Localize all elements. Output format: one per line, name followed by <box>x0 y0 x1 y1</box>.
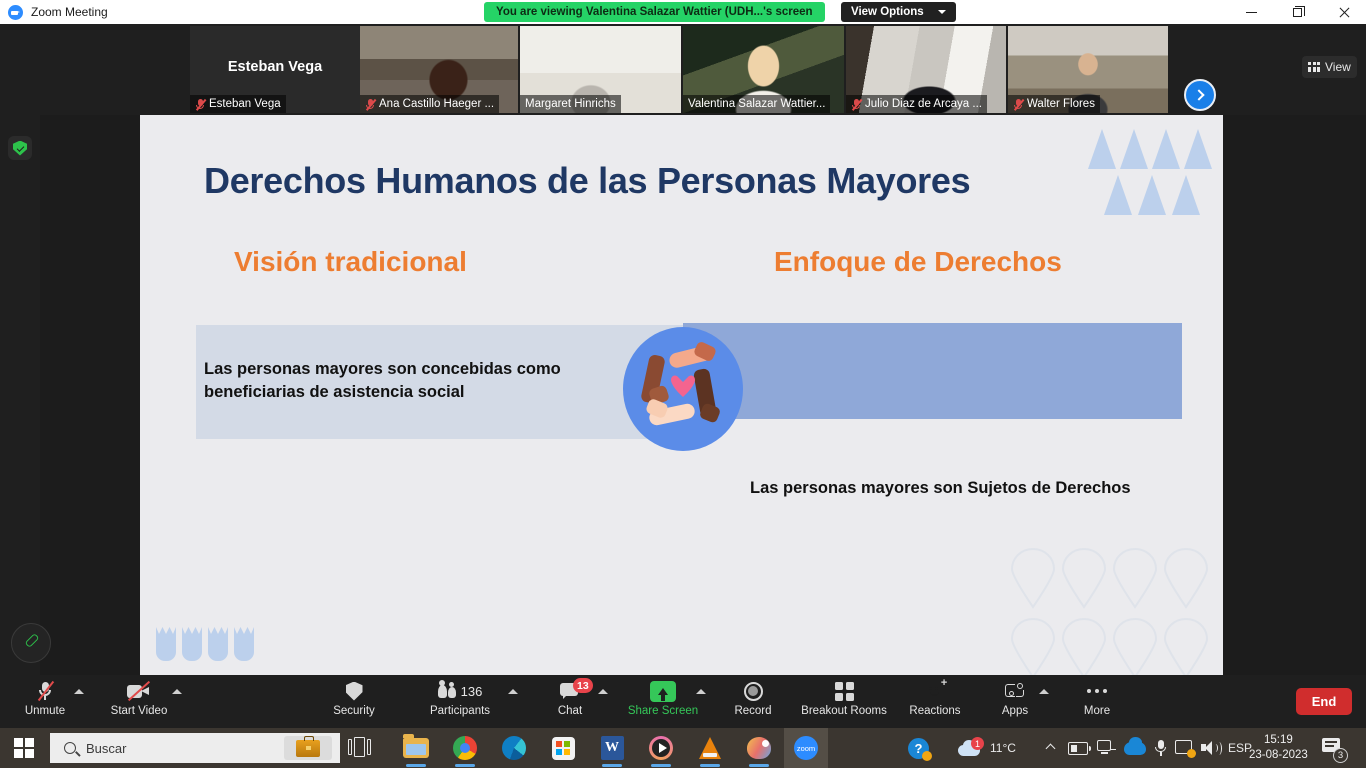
record-button[interactable]: Record <box>730 679 776 724</box>
taskbar-search-box[interactable]: Buscar <box>50 733 340 763</box>
chevron-right-icon <box>1193 89 1204 100</box>
annotate-button[interactable] <box>11 623 51 663</box>
screen-share-banner: You are viewing Valentina Salazar Wattie… <box>484 2 825 22</box>
breakout-rooms-button[interactable]: Breakout Rooms <box>794 679 894 724</box>
end-meeting-button[interactable]: End <box>1296 688 1352 715</box>
participants-count: 136 <box>461 684 483 699</box>
apps-button[interactable]: Apps <box>996 679 1034 724</box>
shared-screen-slide: Derechos Humanos de las Personas Mayores… <box>140 115 1223 675</box>
start-button[interactable] <box>4 732 44 764</box>
maximize-button[interactable] <box>1274 0 1320 24</box>
triangle-decoration <box>1088 129 1214 215</box>
display-settings-icon[interactable] <box>1175 728 1194 768</box>
left-rail <box>0 115 40 675</box>
clock-date: 23-08-2023 <box>1249 748 1308 763</box>
zoom-app-icon[interactable]: zoom <box>784 728 828 768</box>
start-video-button[interactable]: Start Video <box>103 679 175 724</box>
close-icon <box>1338 7 1349 18</box>
microphone-muted-icon <box>365 98 375 111</box>
search-icon <box>64 742 76 754</box>
minimize-button[interactable] <box>1228 0 1274 24</box>
tile-name-bar: Ana Castillo Haeger ... <box>360 95 499 113</box>
reactions-label: Reactions <box>909 705 960 717</box>
view-options-button[interactable]: View Options <box>841 2 956 22</box>
vlc-icon[interactable] <box>688 731 732 765</box>
view-options-label: View Options <box>851 6 924 18</box>
notifications-count: 3 <box>1333 748 1348 763</box>
windows-start-icon <box>14 738 34 758</box>
apps-label: Apps <box>1002 705 1028 717</box>
microphone-muted-icon <box>36 681 54 701</box>
video-options-caret-icon[interactable] <box>172 689 182 694</box>
task-view-icon[interactable] <box>348 738 372 758</box>
participant-name: Walter Flores <box>1027 98 1095 110</box>
tulip-decoration <box>156 627 266 671</box>
search-placeholder: Buscar <box>86 741 126 756</box>
microphone-muted-icon <box>1013 98 1023 111</box>
share-screen-label: Share Screen <box>628 705 698 717</box>
microsoft-edge-icon[interactable] <box>492 731 536 765</box>
paint-icon[interactable] <box>737 731 781 765</box>
self-display-name: Esteban Vega <box>228 59 322 75</box>
video-tile-valentina[interactable]: Valentina Salazar Wattier... <box>683 26 844 113</box>
view-button-label: View <box>1325 60 1351 74</box>
panel-rights <box>683 323 1182 419</box>
breakout-rooms-label: Breakout Rooms <box>801 705 887 717</box>
tile-name-bar: Valentina Salazar Wattier... <box>683 95 830 113</box>
tile-name-bar: Margaret Hinrichs <box>520 95 621 113</box>
breakout-rooms-icon <box>835 682 854 701</box>
shield-icon <box>346 682 363 701</box>
microphone-muted-icon <box>195 98 205 111</box>
participants-icon <box>438 685 456 698</box>
security-button[interactable]: Security <box>329 679 379 724</box>
network-icon[interactable] <box>1097 728 1116 768</box>
chat-unread-badge: 13 <box>573 678 593 693</box>
maximize-icon <box>1293 8 1302 17</box>
unmute-label: Unmute <box>25 705 65 717</box>
unmute-button[interactable]: Unmute <box>18 679 72 724</box>
volume-icon[interactable] <box>1201 728 1221 768</box>
share-screen-icon <box>650 681 676 702</box>
camera-off-icon <box>127 683 151 700</box>
record-icon <box>744 682 763 701</box>
chat-label: Chat <box>558 705 582 717</box>
tile-name-bar: Esteban Vega <box>190 95 286 113</box>
column-heading-traditional: Visión tradicional <box>234 246 467 278</box>
participants-caret-icon[interactable] <box>508 689 518 694</box>
microsoft-store-icon[interactable] <box>541 731 585 765</box>
pen-annotate-icon <box>23 635 39 651</box>
participant-filmstrip: Esteban Vega Esteban Vega Ana Castillo H… <box>0 24 1366 115</box>
reactions-icon: + <box>925 681 945 701</box>
window-title: Zoom Meeting <box>31 5 108 19</box>
notifications-icon[interactable]: 3 <box>1322 738 1344 758</box>
security-shield-icon <box>13 141 27 156</box>
panel-text-rights: Las personas mayores son Sujetos de Dere… <box>750 477 1170 500</box>
participant-name: Esteban Vega <box>209 98 281 110</box>
weather-temperature: 11°C <box>990 741 1016 755</box>
onedrive-icon[interactable] <box>1124 728 1146 768</box>
video-tile-ana[interactable]: Ana Castillo Haeger ... <box>360 26 518 113</box>
minimize-icon <box>1246 12 1257 13</box>
clock[interactable]: 15:19 23-08-2023 <box>1249 728 1308 768</box>
video-tile-margaret[interactable]: Margaret Hinrichs <box>520 26 681 113</box>
zoom-logo-icon <box>8 5 23 20</box>
start-video-label: Start Video <box>111 705 168 717</box>
heart-icon <box>671 375 695 397</box>
reactions-button[interactable]: + Reactions <box>903 679 967 724</box>
microphone-in-use-icon[interactable] <box>1154 728 1167 768</box>
share-caret-icon[interactable] <box>696 689 706 694</box>
slide-title: Derechos Humanos de las Personas Mayores <box>204 160 970 202</box>
meeting-info-shield-button[interactable] <box>8 136 32 160</box>
pin-decoration <box>1010 547 1210 675</box>
participant-name: Margaret Hinrichs <box>525 98 616 110</box>
weather-badge: 1 <box>971 737 984 750</box>
file-explorer-icon[interactable] <box>394 731 438 765</box>
hands-heart-circle-icon <box>623 327 743 451</box>
battery-charging-icon[interactable] <box>1068 728 1088 768</box>
close-button[interactable] <box>1320 0 1366 24</box>
security-label: Security <box>333 705 375 717</box>
windows-taskbar: Buscar W zoom ? 1 11°C ESP 15:19 23-08-2… <box>0 728 1366 768</box>
weather-cloud-icon: 1 <box>958 740 982 756</box>
chat-bubble-icon: 13 <box>560 683 580 699</box>
share-screen-button[interactable]: Share Screen <box>621 679 705 724</box>
google-chrome-icon[interactable] <box>443 731 487 765</box>
participant-name: Valentina Salazar Wattier... <box>688 98 825 110</box>
microphone-muted-icon <box>851 98 861 111</box>
weather-widget[interactable]: 1 11°C <box>958 728 1016 768</box>
record-label: Record <box>734 705 771 717</box>
participants-label: Participants <box>430 705 490 717</box>
video-tile-julio[interactable]: Julio Diaz de Arcaya ... <box>846 26 1006 113</box>
briefcase-icon[interactable] <box>284 736 332 760</box>
more-dots-icon <box>1087 689 1107 693</box>
video-tile-walter[interactable]: Walter Flores <box>1008 26 1168 113</box>
apps-caret-icon[interactable] <box>1039 689 1049 694</box>
meeting-toolbar: Unmute Start Video Security 136 Particip… <box>0 675 1366 728</box>
participants-button[interactable]: 136 Participants <box>425 679 495 724</box>
participant-name: Julio Diaz de Arcaya ... <box>865 98 982 110</box>
video-tile-self[interactable]: Esteban Vega Esteban Vega <box>190 26 360 113</box>
view-layout-button[interactable]: View <box>1302 56 1357 78</box>
panel-text-traditional: Las personas mayores son concebidas como… <box>204 358 624 405</box>
help-icon[interactable]: ? <box>908 728 929 768</box>
chat-button[interactable]: 13 Chat <box>552 679 588 724</box>
chat-caret-icon[interactable] <box>598 689 608 694</box>
show-hidden-icons-button[interactable] <box>1047 728 1054 768</box>
media-player-icon[interactable] <box>639 731 683 765</box>
show-hidden-icons-chevron <box>1046 743 1056 753</box>
participant-name: Ana Castillo Haeger ... <box>379 98 494 110</box>
next-page-button[interactable] <box>1184 79 1216 111</box>
clock-time: 15:19 <box>1264 733 1293 748</box>
microsoft-word-icon[interactable]: W <box>590 731 634 765</box>
tile-name-bar: Julio Diaz de Arcaya ... <box>846 95 987 113</box>
tile-name-bar: Walter Flores <box>1008 95 1100 113</box>
apps-icon <box>1005 682 1025 700</box>
more-button[interactable]: More <box>1078 679 1116 724</box>
column-heading-rights: Enfoque de Derechos <box>774 246 1062 278</box>
chevron-down-icon <box>938 10 946 14</box>
grid-view-icon <box>1308 62 1320 72</box>
more-label: More <box>1084 705 1110 717</box>
audio-options-caret-icon[interactable] <box>74 689 84 694</box>
